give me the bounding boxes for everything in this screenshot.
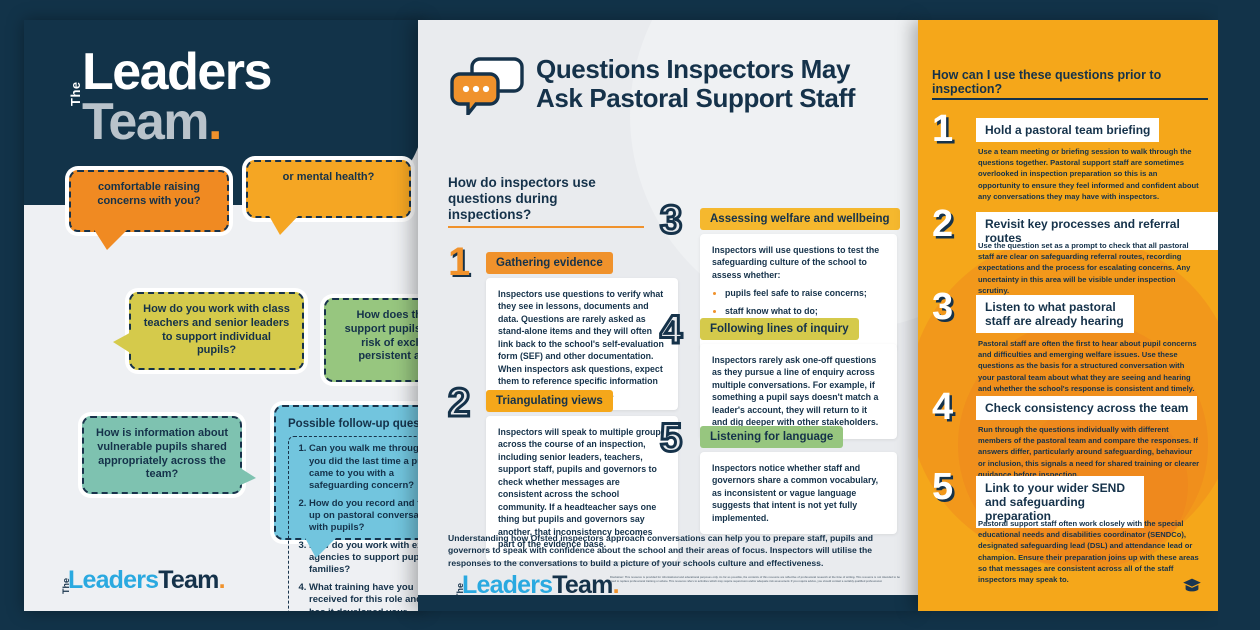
tip-number-1: 1	[932, 110, 951, 148]
step-5-pill: Listening for language	[700, 426, 843, 448]
tip-2-body: Use the question set as a prompt to chec…	[978, 240, 1200, 296]
disclaimer-text: Disclaimer: This resource is provided fo…	[610, 576, 900, 584]
speech-bubble-3-text: How do you work with class teachers and …	[143, 303, 290, 356]
speech-bubble-4-text: How does the school support pupils who a…	[345, 309, 424, 362]
page-title: Questions Inspectors May Ask Pastoral Su…	[536, 55, 886, 114]
step-3-pill: Assessing welfare and wellbeing	[700, 208, 900, 230]
graduation-cap-icon	[1182, 577, 1202, 593]
right-panel-heading: How can I use these questions prior to i…	[932, 68, 1208, 100]
poster-canvas: The Leaders Team. comfortable raising co…	[0, 0, 1260, 630]
speech-bubble-5: How is information about vulnerable pupi…	[82, 416, 242, 494]
step-4-card: Inspectors rarely ask one-off questions …	[700, 344, 897, 439]
tip-number-5: 5	[932, 468, 951, 506]
speech-bubble-3: How do you work with class teachers and …	[129, 292, 304, 370]
right-panel: How can I use these questions prior to i…	[918, 20, 1218, 611]
list-item: Can you walk me through what you did the…	[309, 443, 424, 492]
logo-the: The	[68, 81, 83, 106]
logo-primary: The Leaders Team.	[52, 48, 271, 148]
followup-title: Possible follow-up questions:	[288, 417, 424, 431]
logo-wordmark: LeadersTeam.	[68, 566, 225, 594]
step-number-1: 1	[448, 242, 468, 282]
main-page-content: Questions Inspectors May Ask Pastoral Su…	[418, 20, 920, 611]
tip-3-body: Pastoral staff are often the first to he…	[978, 338, 1200, 394]
step-1-pill: Gathering evidence	[486, 252, 613, 274]
bubble-tail-icon	[268, 214, 300, 235]
tip-4-title: Check consistency across the team	[976, 396, 1197, 420]
speech-bubble-2: or mental health?	[246, 160, 411, 218]
step-5-card: Inspectors notice whether staff and gove…	[700, 452, 897, 534]
tip-3-title: Listen to what pastoral staff are alread…	[976, 295, 1134, 333]
tip-1-title: Hold a pastoral team briefing	[976, 118, 1159, 142]
logo-leaders: Leaders	[82, 48, 271, 98]
page-footnote: Understanding how Ofsted inspectors appr…	[448, 532, 903, 569]
speech-bubble-5-text: How is information about vulnerable pupi…	[96, 427, 228, 480]
speech-bubble-1-text: comfortable raising concerns with you?	[97, 181, 200, 207]
back-page: The Leaders Team. comfortable raising co…	[24, 20, 424, 611]
logo-back-footer: The LeadersTeam.	[54, 568, 225, 593]
list-item: pupils feel safe to raise concerns;	[725, 287, 885, 299]
bubble-tail-icon	[113, 330, 135, 356]
step-number-4: 4	[660, 310, 680, 350]
tip-number-2: 2	[932, 205, 951, 243]
list-item: What training have you received for this…	[309, 582, 424, 611]
list-item: staff know what to do;	[725, 305, 885, 317]
speech-bubbles-icon	[450, 57, 524, 115]
logo-team: Team.	[82, 98, 271, 148]
speech-bubble-2-text: or mental health?	[283, 171, 375, 183]
bubble-tail-icon	[304, 536, 338, 558]
speech-bubble-4: How does the school support pupils who a…	[324, 298, 424, 382]
list-item: How do you record and follow up on pasto…	[309, 498, 424, 535]
tip-5-body: Pastoral support staff often work closel…	[978, 518, 1206, 585]
page-bottom-bar	[418, 595, 920, 611]
tip-number-4: 4	[932, 388, 951, 426]
step-4-pill: Following lines of inquiry	[700, 318, 859, 340]
step-number-5: 5	[660, 418, 680, 458]
column-heading-left: How do inspectors use questions during i…	[448, 175, 644, 228]
step-2-pill: Triangulating views	[486, 390, 613, 412]
logo-the: The	[61, 578, 71, 594]
tip-1-body: Use a team meeting or briefing session t…	[978, 146, 1200, 202]
bubble-tail-icon	[234, 464, 256, 488]
followup-inner-box: Can you walk me through what you did the…	[288, 436, 424, 611]
bubble-tail-icon	[93, 228, 129, 250]
followup-questions-bubble: Possible follow-up questions: Can you wa…	[274, 405, 424, 540]
tip-4-body: Run through the questions individually w…	[978, 424, 1200, 480]
step-number-3: 3	[660, 200, 680, 240]
tip-number-3: 3	[932, 288, 951, 326]
step-number-2: 2	[448, 383, 468, 423]
followup-list: Can you walk me through what you did the…	[291, 443, 424, 611]
main-page: Questions Inspectors May Ask Pastoral Su…	[418, 20, 920, 611]
speech-bubble-1: comfortable raising concerns with you?	[69, 170, 229, 232]
step-3-body: Inspectors will use questions to test th…	[712, 245, 879, 280]
frame-right-edge	[1218, 0, 1260, 630]
